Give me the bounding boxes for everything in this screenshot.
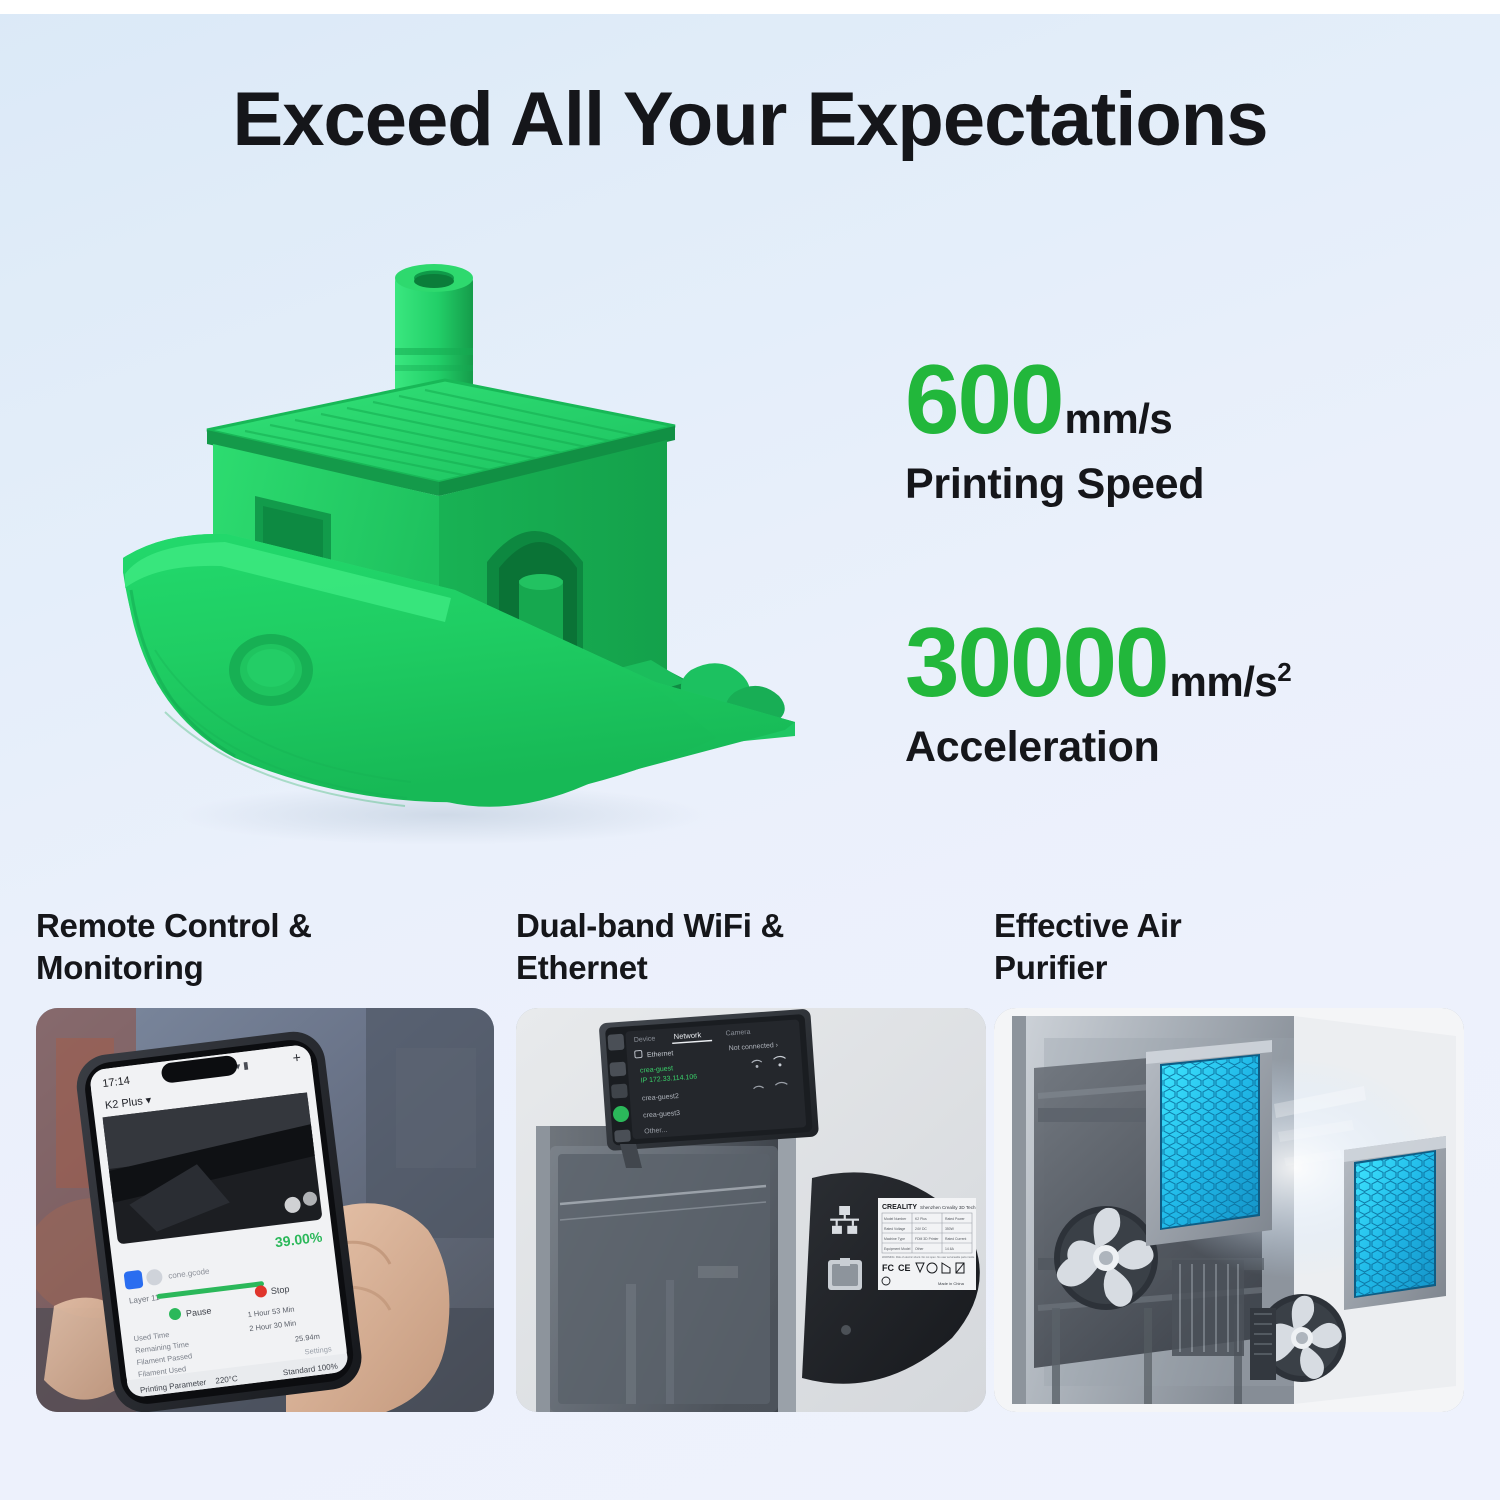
- svg-text:WARNING: Risk of electric shoc: WARNING: Risk of electric shock. Do not …: [882, 1255, 975, 1259]
- benchy-boat-model: [95, 230, 795, 850]
- spec-unit: mm/s2: [1170, 657, 1292, 706]
- spec-acceleration: 30000 mm/s2 Acceleration: [905, 613, 1465, 772]
- svg-text:350W: 350W: [945, 1227, 955, 1231]
- feature-title-line1: Remote Control &: [36, 905, 496, 947]
- feature-title-line2: Purifier: [994, 947, 1454, 989]
- svg-text:24V DC: 24V DC: [915, 1227, 927, 1231]
- spec-list: 600 mm/s Printing Speed 30000 mm/s2 Acce…: [905, 350, 1465, 876]
- feature-title-line2: Ethernet: [516, 947, 976, 989]
- svg-text:CE: CE: [898, 1263, 911, 1273]
- spec-printing-speed: 600 mm/s Printing Speed: [905, 350, 1465, 509]
- svg-text:CREALITY: CREALITY: [882, 1204, 917, 1211]
- feature-remote-control: Remote Control & Monitoring: [36, 905, 496, 1001]
- page-background: Exceed All Your Expectations: [0, 0, 1500, 1500]
- svg-text:Equipment Model: Equipment Model: [884, 1247, 911, 1251]
- feature-wifi-ethernet: Dual-band WiFi & Ethernet: [516, 905, 976, 1001]
- page-title: Exceed All Your Expectations: [0, 76, 1500, 163]
- svg-text:Rated Power: Rated Power: [945, 1217, 965, 1221]
- feature-image-wifi-ethernet: Device Network Camera Ethernet Not conne…: [516, 1008, 986, 1412]
- svg-text:14.6A: 14.6A: [945, 1247, 955, 1251]
- feature-title: Effective Air Purifier: [994, 905, 1454, 1001]
- svg-text:Made in China: Made in China: [938, 1281, 965, 1286]
- svg-text:Rated Current: Rated Current: [945, 1237, 966, 1241]
- feature-title: Dual-band WiFi & Ethernet: [516, 905, 976, 1001]
- svg-text:Rated Voltage: Rated Voltage: [884, 1227, 905, 1231]
- hero-section: 600 mm/s Printing Speed 30000 mm/s2 Acce…: [0, 200, 1500, 880]
- feature-title-line1: Effective Air: [994, 905, 1454, 947]
- svg-text:Other: Other: [915, 1247, 924, 1251]
- feature-image-remote-control: 17:14 ▾ ▮ + K2 Plus ▾: [36, 1008, 494, 1412]
- spec-value: 30000: [905, 613, 1168, 711]
- spec-unit: mm/s: [1065, 395, 1173, 443]
- carbon-filter-side: [1344, 1136, 1446, 1310]
- feature-image-air-purifier: [994, 1008, 1464, 1412]
- svg-text:K2 Plus: K2 Plus: [915, 1217, 927, 1221]
- spec-value: 600: [905, 350, 1063, 448]
- svg-text:Shenzhen Creality 3D Tech: Shenzhen Creality 3D Tech: [920, 1205, 976, 1210]
- svg-text:Machine Type: Machine Type: [884, 1237, 905, 1241]
- feature-title-line2: Monitoring: [36, 947, 496, 989]
- spec-label: Printing Speed: [905, 460, 1465, 509]
- feature-row: Remote Control & Monitoring: [0, 905, 1500, 1500]
- svg-text:FC: FC: [882, 1263, 894, 1273]
- feature-title-line1: Dual-band WiFi &: [516, 905, 976, 947]
- svg-text:Model Number: Model Number: [884, 1217, 907, 1221]
- feature-air-purifier: Effective Air Purifier: [994, 905, 1454, 1001]
- svg-text:Device: Device: [634, 1035, 656, 1043]
- carbon-filter-front: [1146, 1040, 1272, 1246]
- cooling-fan-left: [1054, 1206, 1158, 1310]
- svg-text:FDM 3D Printer: FDM 3D Printer: [915, 1237, 939, 1241]
- feature-title: Remote Control & Monitoring: [36, 905, 496, 1001]
- spec-label: Acceleration: [905, 723, 1465, 772]
